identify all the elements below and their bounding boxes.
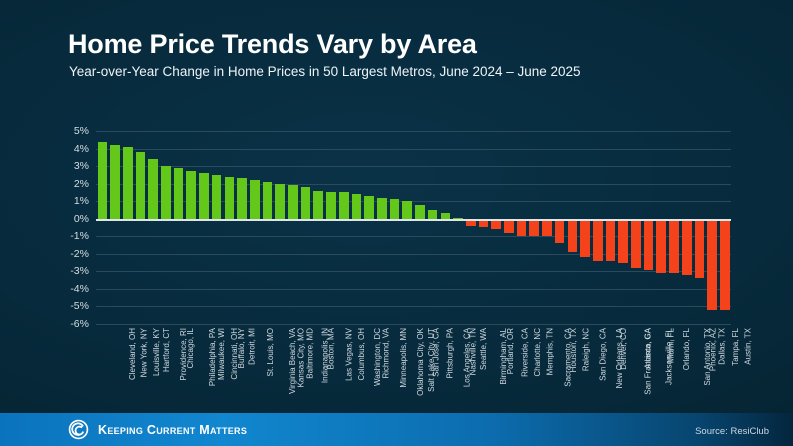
bar-column [160,131,173,324]
bar-positive [339,192,349,218]
bar-negative [542,219,552,237]
bar-positive [377,198,387,219]
y-axis-tick-label: 0% [74,213,89,225]
source-note: Source: ResiClub [695,426,769,437]
x-axis-label-column: Miami, FL [642,328,655,406]
bar-column [401,131,414,324]
x-axis-label-column: Hartford, CT [134,328,147,406]
x-axis-tick-label: Tampa, FL [731,290,740,328]
bar-positive [428,210,438,219]
bar-column [566,131,579,324]
x-axis-label-column: Tampa, FL [706,328,719,406]
x-axis-label-column: Salt Lake City, UT [388,328,401,406]
bar-column [325,131,338,324]
x-axis-label-column: Los Angeles, CA [426,328,439,406]
bar-column [579,131,592,324]
bar-positive [288,185,298,218]
bar-negative [529,219,539,237]
bar-negative [720,219,730,310]
bar-column [287,131,300,324]
bar-column [96,131,109,324]
x-axis-tick-label: Austin, TX [743,291,752,328]
page-title: Home Price Trends Vary by Area [68,29,477,60]
bar-column [121,131,134,324]
bar-positive [313,191,323,219]
chart-slide: Home Price Trends Vary by Area Year-over… [0,0,793,446]
bar-column [528,131,541,324]
x-axis-label-column: San Antonio, TX [668,328,681,406]
bar-column [299,131,312,324]
x-axis-label-column: Virginia Beach, VA [248,328,261,406]
bar-column [388,131,401,324]
footer-bar: Keeping Current Matters [0,413,793,446]
brand-lockup: Keeping Current Matters [68,413,247,446]
kcm-spiral-icon [68,419,89,440]
bar-negative [517,219,527,237]
y-axis-tick-label: -3% [70,265,89,277]
x-axis-label-column: San Francisco, CA [604,328,617,406]
x-axis-label-column: New Orleans, LA [579,328,592,406]
x-axis-label-column: Kansas City, MO [261,328,274,406]
bar-column [591,131,604,324]
x-axis-label-column: Pittsburgh, PA [414,328,427,406]
bar-negative [695,219,705,279]
bar-positive [199,173,209,219]
bar-negative [644,219,654,270]
bar-negative [656,219,666,273]
bar-column [147,131,160,324]
zero-line [96,219,731,221]
x-axis-label-column: Houston, TX [541,328,554,406]
bar-column [630,131,643,324]
bar-column [426,131,439,324]
bar-column [604,131,617,324]
bar-positive [301,187,311,219]
bar-positive [186,171,196,218]
y-axis-tick-label: 2% [74,178,89,190]
bar-negative [568,219,578,252]
x-axis-label-column: Buffalo, NY [210,328,223,406]
bar-column [312,131,325,324]
bar-negative [580,219,590,258]
bar-column [198,131,211,324]
x-axis-label-column: Minneapolis, MN [363,328,376,406]
bar-column [109,131,122,324]
y-axis-tick-label: -4% [70,283,89,295]
bar-column [261,131,274,324]
bar-column [439,131,452,324]
x-axis-label-column: Dallas, TX [693,328,706,406]
bar-column [236,131,249,324]
x-axis-label-column: Portland, OR [477,328,490,406]
bar-positive [174,168,184,219]
x-axis-label-column: Denver, CO [591,328,604,406]
x-axis-label-column: Philadelphia, PA [172,328,185,406]
bar-column [337,131,350,324]
x-axis-label-column: Cleveland, OH [96,328,109,406]
y-axis-tick-label: -5% [70,300,89,312]
bar-positive [225,177,235,219]
bar-column [541,131,554,324]
y-axis-tick-label: -6% [70,318,89,330]
bar-negative [631,219,641,268]
chart-plot-area: 5%4%3%2%1%0%-1%-2%-3%-4%-5%-6% [96,131,731,324]
x-axis-label-column: Milwaukee, WI [185,328,198,406]
x-axis-label-column: Cincinnati, OH [198,328,211,406]
bar-column [350,131,363,324]
bar-column [668,131,681,324]
y-axis-tick-label: 1% [74,195,89,207]
bar-positive [212,175,222,219]
bar-column [134,131,147,324]
x-axis-label-column: Boston, MA [299,328,312,406]
bar-column [503,131,516,324]
x-axis-label-column: Providence, RI [147,328,160,406]
brand-name: Keeping Current Matters [98,423,247,437]
x-axis-label-column: San Jose, CA [401,328,414,406]
x-axis-label-column: Sacramento, CA [528,328,541,406]
bar-column [655,131,668,324]
bar-column [414,131,427,324]
bar-positive [390,199,400,218]
bar-column [452,131,465,324]
bar-column [706,131,719,324]
y-axis-tick-label: 4% [74,143,89,155]
bar-positive [364,196,374,219]
bar-column [642,131,655,324]
bar-negative [593,219,603,261]
x-axis-label-column: Nashville, TN [439,328,452,406]
bar-column [693,131,706,324]
x-axis-label-column: Louisville, KY [121,328,134,406]
bar-positive [98,142,108,219]
bar-positive [352,194,362,219]
bar-column [172,131,185,324]
x-axis-label-column: Indianapolis, IN [287,328,300,406]
bar-column [274,131,287,324]
x-axis-label-column: Baltimore, MD [274,328,287,406]
bar-column [248,131,261,324]
x-axis-label-column: New York, NY [109,328,122,406]
bar-negative [669,219,679,273]
bar-column [490,131,503,324]
y-axis-tick-label: -1% [70,230,89,242]
x-axis-label-column: St. Louis, MO [236,328,249,406]
x-axis-label-column: Columbus, OH [325,328,338,406]
chart-x-axis: Cleveland, OHNew York, NYLouisville, KYH… [96,328,731,406]
x-axis-label-column: San Diego, CA [566,328,579,406]
bar-column [210,131,223,324]
bar-positive [161,166,171,219]
y-axis-tick-label: -2% [70,248,89,260]
bar-positive [326,192,336,218]
bar-positive [123,147,133,219]
y-axis-tick-label: 3% [74,160,89,172]
bar-negative [606,219,616,261]
bar-column [185,131,198,324]
bar-column [680,131,693,324]
bar-column [464,131,477,324]
x-axis-label-column: Washington, DC [337,328,350,406]
bar-negative [618,219,628,263]
x-axis-label-column: Oklahoma City, OK [375,328,388,406]
bar-negative [504,219,514,233]
bar-column [363,131,376,324]
x-axis-label-column: Memphis, TN [515,328,528,406]
bar-positive [237,178,247,218]
bar-positive [250,180,260,219]
x-axis-label-column: Charlotte, NC [503,328,516,406]
x-axis-label-column: Atlanta, GA [617,328,630,406]
x-axis-label-column: Raleigh, NC [553,328,566,406]
x-axis-label-column: Detroit, MI [223,328,236,406]
bar-negative [682,219,692,275]
bar-positive [402,201,412,219]
bar-positive [148,159,158,219]
x-axis-label-column: Austin, TX [718,328,731,406]
bar-column [223,131,236,324]
y-axis-tick-label: 5% [74,125,89,137]
x-axis-label-column: Jacksonville, FL [630,328,643,406]
bar-column [617,131,630,324]
x-axis-label-column: Orlando, FL [655,328,668,406]
x-axis-label-column: Phoenix, AZ [680,328,693,406]
x-axis-label-column: Birmingham, AL [464,328,477,406]
page-subtitle: Year-over-Year Change in Home Prices in … [69,64,581,79]
x-axis-label-column: Seattle, WA [452,328,465,406]
bar-positive [275,184,285,219]
bar-positive [136,152,146,219]
bar-positive [110,145,120,219]
bar-column [718,131,731,324]
bar-column [477,131,490,324]
x-axis-label-column: Las Vegas, NV [312,328,325,406]
x-axis-label-column: Chicago, IL [160,328,173,406]
bar-column [375,131,388,324]
bar-column [553,131,566,324]
bar-positive [415,205,425,219]
bar-positive [263,182,273,219]
x-axis-label-column: Riverside, CA [490,328,503,406]
bar-negative [707,219,717,310]
bar-column [515,131,528,324]
x-axis-label-column: Richmond, VA [350,328,363,406]
bar-negative [555,219,565,244]
chart-bars [96,131,731,324]
